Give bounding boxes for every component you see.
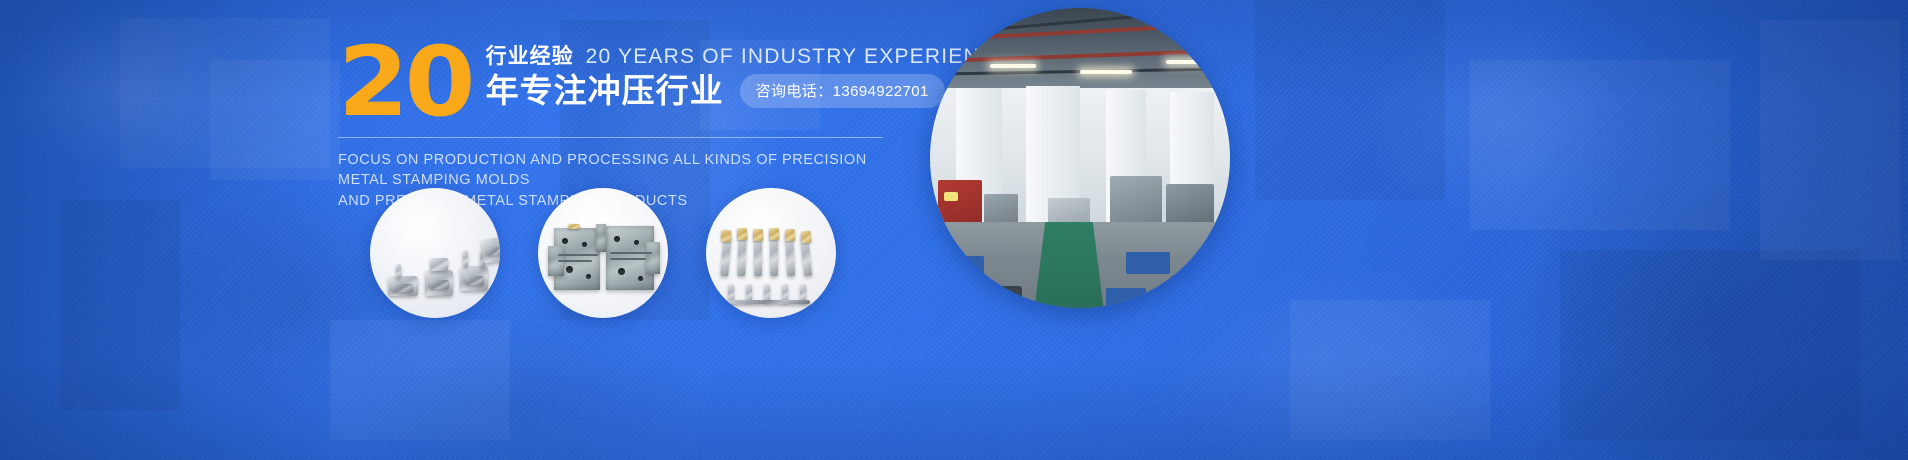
product-photo-circle-terminals[interactable] [706, 188, 836, 318]
banner-copy-block: 20 行业经验 20 YEARS OF INDUSTRY EXPERIENCE … [338, 30, 938, 211]
factory-photo-circle[interactable] [930, 8, 1230, 308]
years-number: 20 [338, 42, 471, 123]
main-headline-cn: 年专注冲压行业 [486, 74, 724, 109]
subcopy-line-1: FOCUS ON PRODUCTION AND PROCESSING ALL K… [338, 150, 898, 191]
product-photo-circle-stamping-die[interactable] [538, 188, 668, 318]
product-photo-circle-connectors[interactable] [370, 188, 500, 318]
headline-row: 20 行业经验 20 YEARS OF INDUSTRY EXPERIENCE … [338, 30, 938, 123]
promo-banner: 20 行业经验 20 YEARS OF INDUSTRY EXPERIENCE … [0, 0, 1908, 460]
industry-experience-cn-label: 行业经验 [486, 46, 574, 67]
consult-phone-badge[interactable]: 咨询电话：13694922701 [740, 74, 945, 108]
